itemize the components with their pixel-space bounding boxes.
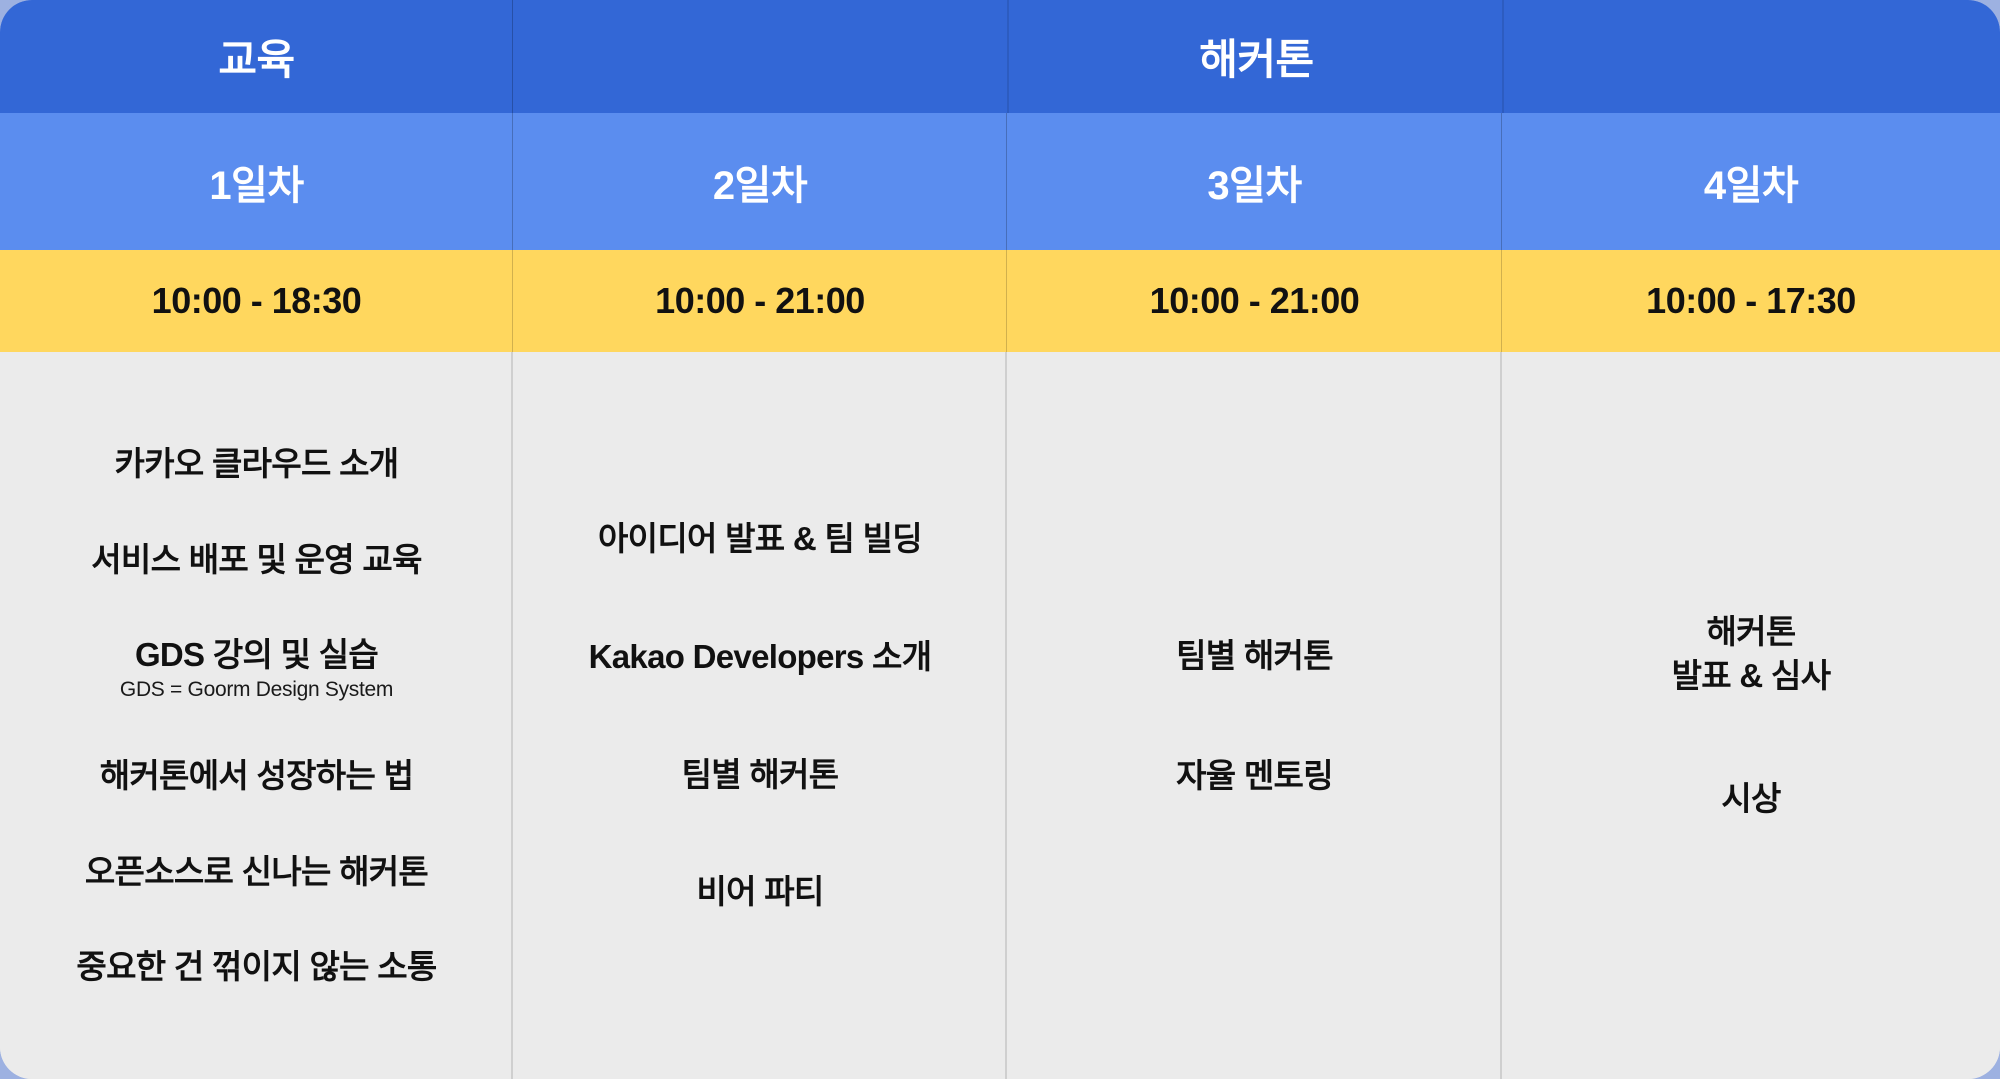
phase-divider-ghost-1 <box>1007 0 1009 113</box>
session-body-row: 카카오 클라우드 소개 서비스 배포 및 운영 교육 GDS 강의 및 실습 G… <box>0 352 2000 1079</box>
day-header-cell-1: 1일차 <box>0 113 513 250</box>
session-item: 팀별 해커톤 <box>1176 634 1333 678</box>
day-header-row: 1일차 2일차 3일차 4일차 <box>0 113 2000 250</box>
session-note: GDS = Goorm Design System <box>120 677 393 702</box>
time-label-2: 10:00 - 21:00 <box>655 280 865 322</box>
session-column-3: 팀별 해커톤 자율 멘토링 <box>1007 352 1502 1079</box>
day-label-1: 1일차 <box>209 153 303 211</box>
session-item: 팀별 해커톤 <box>682 753 839 797</box>
phase-label-hackathon: 해커톤 <box>1199 26 1313 87</box>
session-item: 비어 파티 <box>696 870 823 914</box>
session-item: 서비스 배포 및 운영 교육 <box>91 538 421 582</box>
time-header-cell-1: 10:00 - 18:30 <box>0 250 513 352</box>
session-column-1: 카카오 클라우드 소개 서비스 배포 및 운영 교육 GDS 강의 및 실습 G… <box>0 352 513 1079</box>
session-item: 해커톤 발표 & 심사 <box>1672 610 1831 697</box>
day-header-cell-3: 3일차 <box>1007 113 1502 250</box>
schedule-table: 교육 해커톤 1일차 2일차 3일차 4일차 10:00 - 18:30 10:… <box>0 0 2000 1079</box>
session-item: 아이디어 발표 & 팀 빌딩 <box>598 517 922 561</box>
phase-divider-ghost-2 <box>1502 0 1504 113</box>
session-item: 오픈소스로 신나는 해커톤 <box>85 850 428 894</box>
day-header-cell-2: 2일차 <box>513 113 1007 250</box>
session-column-4: 해커톤 발표 & 심사 시상 <box>1502 352 2000 1079</box>
time-label-4: 10:00 - 17:30 <box>1646 280 1856 322</box>
time-header-row: 10:00 - 18:30 10:00 - 21:00 10:00 - 21:0… <box>0 250 2000 352</box>
session-item: 카카오 클라우드 소개 <box>115 442 399 486</box>
day-header-cell-4: 4일차 <box>1502 113 2000 250</box>
session-item: Kakao Developers 소개 <box>589 635 932 679</box>
day-label-3: 3일차 <box>1207 153 1301 211</box>
session-item: GDS 강의 및 실습 <box>135 633 378 677</box>
time-header-cell-3: 10:00 - 21:00 <box>1007 250 1502 352</box>
day-label-2: 2일차 <box>713 153 807 211</box>
session-item: 자율 멘토링 <box>1176 754 1333 798</box>
day-label-4: 4일차 <box>1704 153 1798 211</box>
phase-header-row: 교육 해커톤 <box>0 0 2000 113</box>
phase-label-education: 교육 <box>218 26 294 87</box>
time-label-1: 10:00 - 18:30 <box>152 280 362 322</box>
time-label-3: 10:00 - 21:00 <box>1150 280 1360 322</box>
time-header-cell-4: 10:00 - 17:30 <box>1502 250 2000 352</box>
session-item: 시상 <box>1721 777 1780 821</box>
phase-header-hackathon: 해커톤 <box>513 0 2000 113</box>
time-header-cell-2: 10:00 - 21:00 <box>513 250 1007 352</box>
session-item: 해커톤에서 성장하는 법 <box>100 754 414 798</box>
phase-header-education: 교육 <box>0 0 513 113</box>
session-column-2: 아이디어 발표 & 팀 빌딩 Kakao Developers 소개 팀별 해커… <box>513 352 1007 1079</box>
session-item: 중요한 건 꺾이지 않는 소통 <box>76 945 436 989</box>
